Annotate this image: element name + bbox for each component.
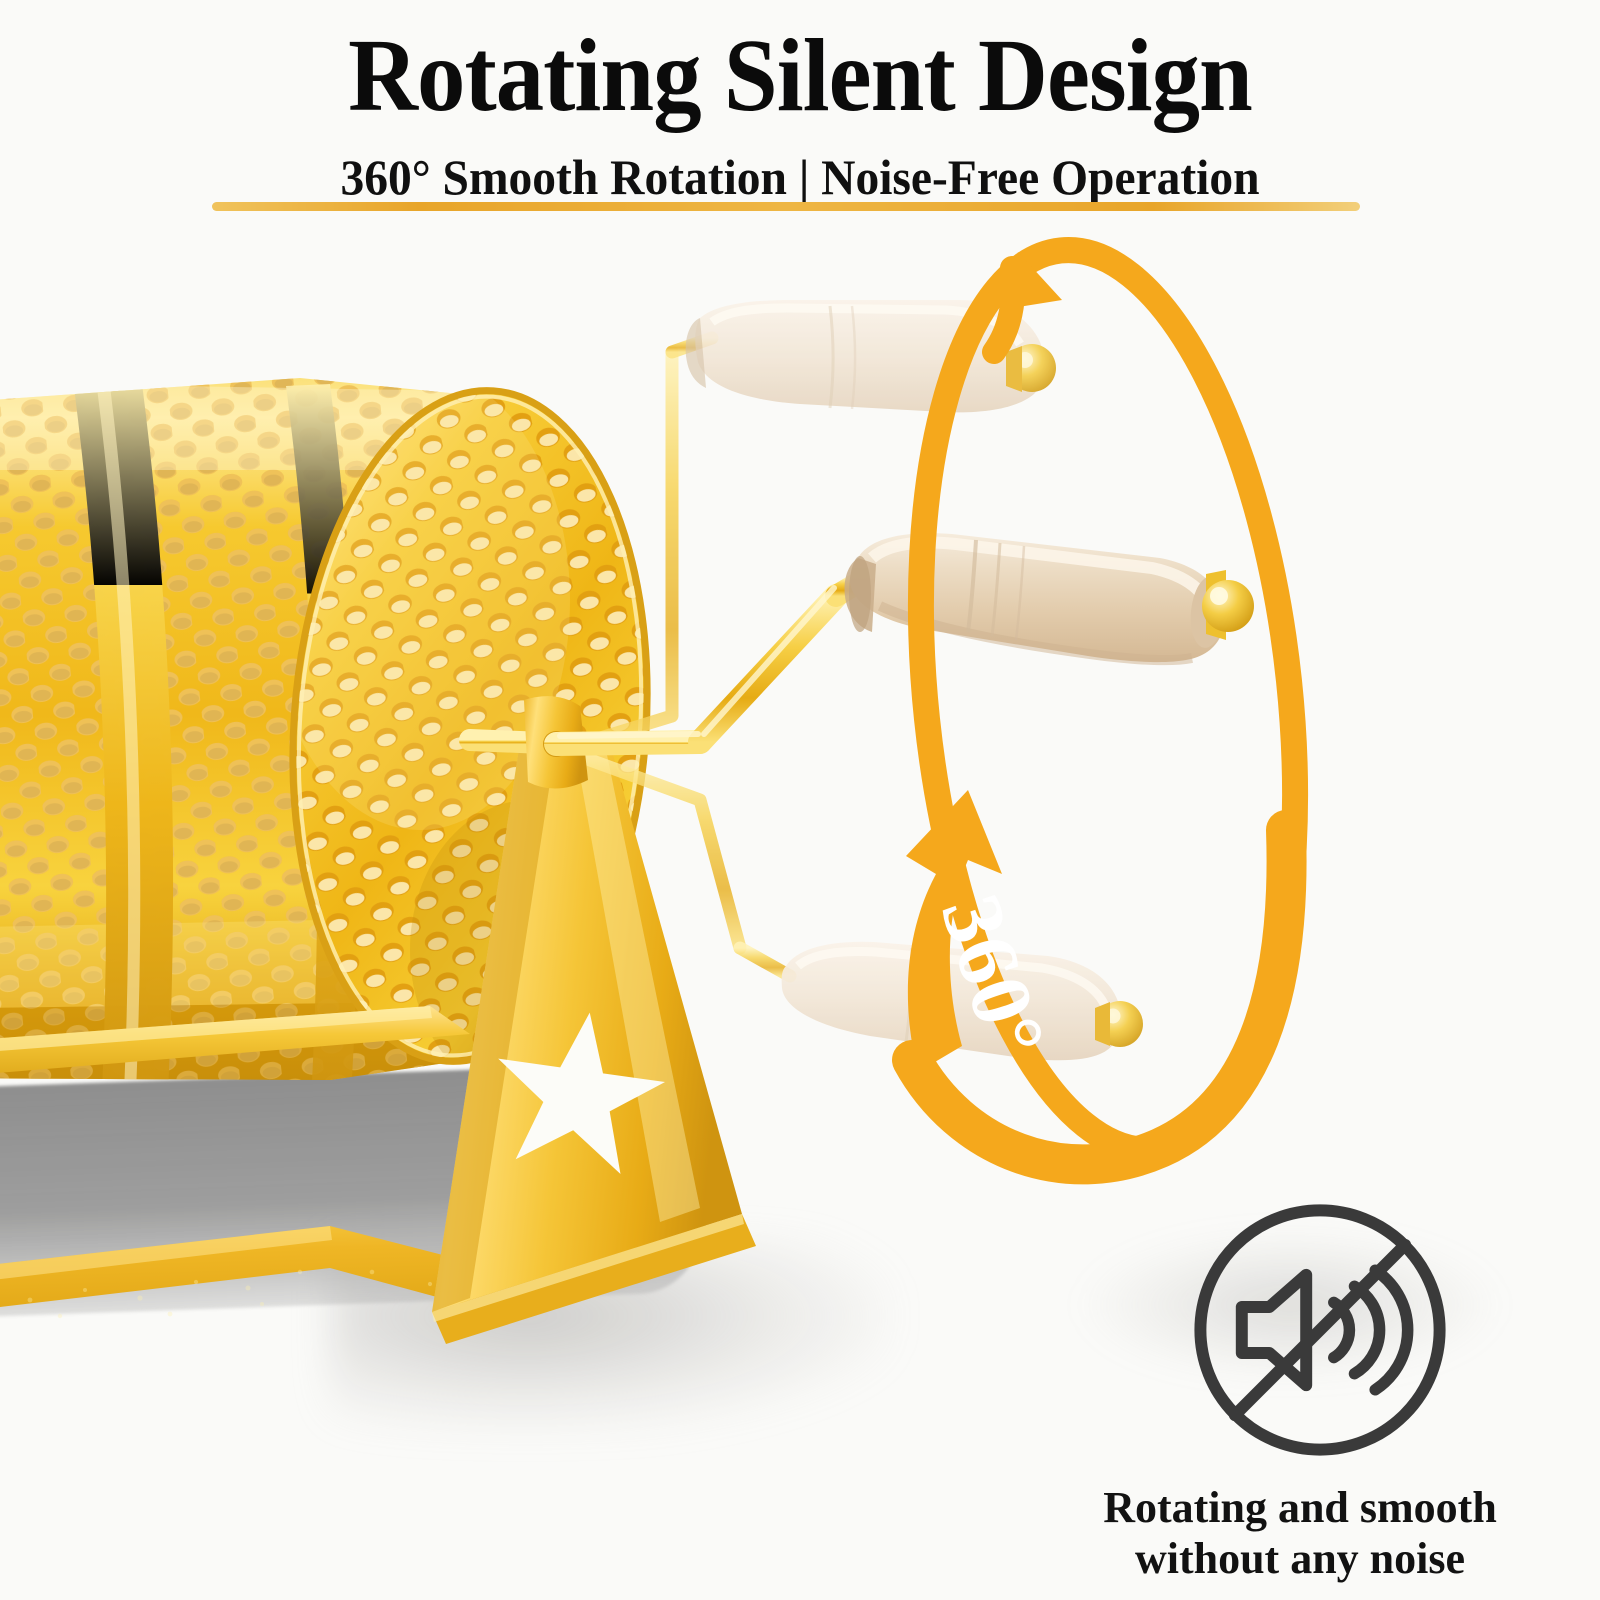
product-feature-banner: Rotating Silent Design 360° Smooth Rotat… (0, 0, 1600, 1600)
caption-line-2: without any noise (1010, 1533, 1590, 1584)
rotation-arrowhead-top (994, 252, 1062, 352)
product-illustration: 360° Rotating and smooth without any noi… (0, 0, 1600, 1600)
header-block: Rotating Silent Design 360° Smooth Rotat… (0, 0, 1600, 202)
page-title: Rotating Silent Design (56, 24, 1544, 128)
page-subtitle: 360° Smooth Rotation | Noise-Free Operat… (40, 152, 1560, 202)
caption-line-1: Rotating and smooth (1010, 1482, 1590, 1533)
header-divider (212, 202, 1360, 211)
feature-caption: Rotating and smooth without any noise (1010, 1482, 1590, 1584)
no-sound-icon (1182, 1192, 1458, 1468)
